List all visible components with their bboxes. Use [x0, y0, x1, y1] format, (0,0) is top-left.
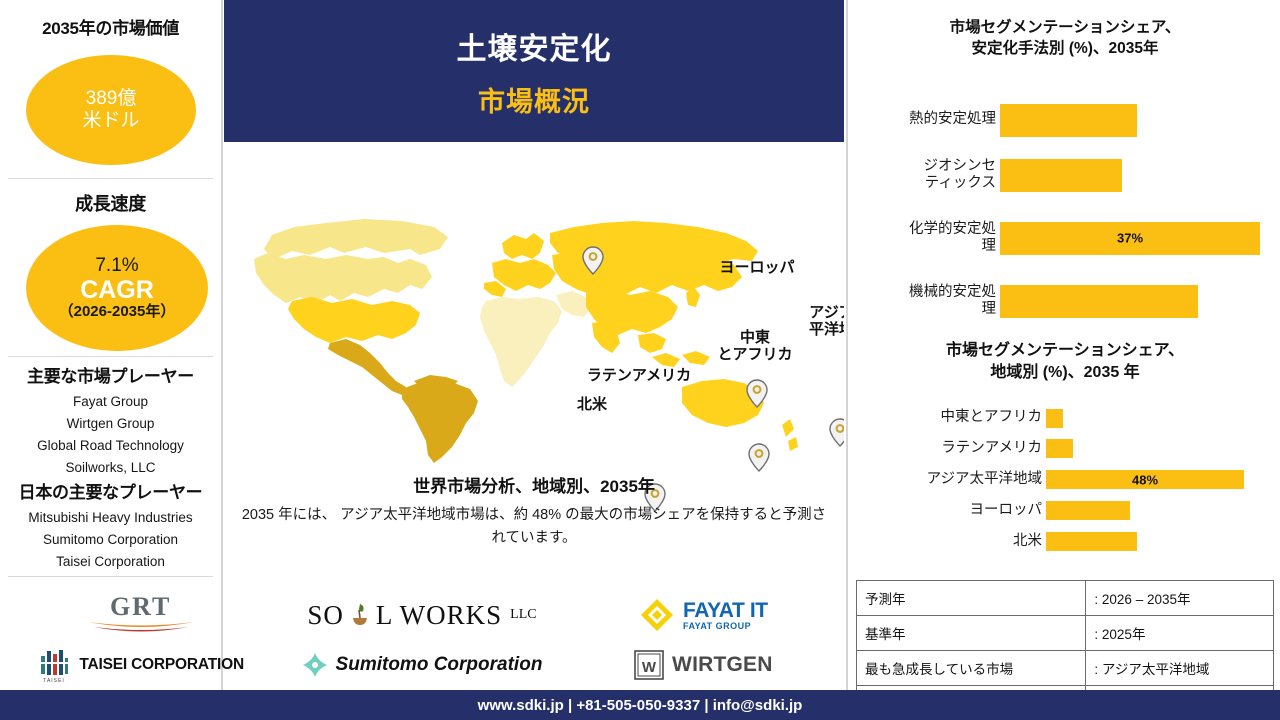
chart-2-label: アジア太平洋地域 [848, 471, 1042, 488]
map-pin-asia-pacific [829, 418, 844, 448]
logo-soilworks-text: SO [307, 600, 344, 631]
logo-sumitomo-text: Sumitomo Corporation [336, 654, 543, 676]
chart-2-bar [1046, 439, 1073, 458]
map-pin-north-america [582, 246, 604, 276]
chart-2-bar [1046, 409, 1063, 428]
japan-players-section: 日本の主要なプレーヤー Mitsubishi Heavy Industries … [0, 478, 221, 573]
page-title: 土壌安定化 [457, 24, 612, 68]
list-item: Taisei Corporation [0, 551, 221, 573]
key-players-heading: 主要な市場プレーヤー [0, 362, 221, 387]
map-pin-middle-east-africa [748, 443, 770, 473]
page-header: 土壌安定化 市場概況 [224, 0, 844, 142]
key-players-list: Fayat Group Wirtgen Group Global Road Te… [0, 391, 221, 478]
map-label-middle-east-africa: 中東 とアフリカ [690, 330, 820, 364]
chart-2-row: 中東とアフリカ [848, 403, 1280, 433]
soil-sprout-icon [350, 601, 370, 629]
chart-2-row: 北米 [848, 526, 1280, 557]
chart-1-bar [1000, 104, 1137, 137]
chart-2-title-line1: 市場セグメンテーションシェア、 [858, 340, 1272, 362]
list-item: Soilworks, LLC [0, 457, 221, 479]
logo-wirtgen-text: WIRTGEN [672, 653, 773, 677]
chart-1-label: 化学的安定処 理 [848, 221, 996, 256]
chart-1-label: ジオシンセ ティックス [848, 158, 996, 193]
growth-section: 成長速度 [0, 190, 221, 216]
logo-grt-text: GRT [110, 594, 171, 620]
table-value: : アジア太平洋地域 [1086, 651, 1274, 686]
page-subtitle: 市場概況 [478, 80, 590, 119]
market-value-ellipse: 389億 米ドル [26, 55, 196, 165]
right-sidebar: 市場セグメンテーションシェア、 安定化手法別 (%)、2035年 熱的安定処理 … [846, 0, 1280, 720]
logo-fayat-sub: FAYAT GROUP [683, 621, 768, 631]
map-label-latin-america: ラテンアメリカ [544, 368, 734, 385]
chart-2-bars: 中東とアフリカ ラテンアメリカ アジア太平洋地域 48% ヨーロッパ [848, 403, 1280, 557]
table-row: 予測年 : 2026 – 2035年 [857, 581, 1274, 616]
chart-2-bar [1046, 501, 1130, 520]
chart-2-row: ラテンアメリカ [848, 433, 1280, 464]
list-item: Fayat Group [0, 391, 221, 413]
growth-heading: 成長速度 [0, 190, 221, 216]
wirtgen-mark-icon: W [634, 650, 664, 680]
growth-cagr: CAGR [80, 277, 154, 303]
table-key: 基準年 [857, 616, 1086, 651]
map-body-text: 2035 年には、 アジア太平洋地域市場は、約 48% の最大の市場シェアを保持… [238, 504, 830, 550]
partner-logos: GRT SO L WORKS LLC [0, 590, 844, 690]
chart-2-bar: 48% [1046, 470, 1244, 489]
map-pin-europe [746, 379, 768, 409]
logo-fayat: FAYAT IT FAYAT GROUP [639, 597, 768, 633]
logo-fayat-text: FAYAT IT [683, 600, 768, 621]
list-item: Sumitomo Corporation [0, 529, 221, 551]
sumitomo-mark-icon [302, 652, 328, 678]
chart-2-bar [1046, 532, 1137, 551]
footer-bar: www.sdki.jp | +81-505-050-9337 | info@sd… [0, 690, 1280, 720]
fayat-diamond-icon [639, 597, 675, 633]
chart-1-bar [1000, 159, 1122, 192]
chart-1-row: 機械的安定処 理 [848, 270, 1280, 332]
divider-3 [8, 576, 213, 577]
chart-1-title: 市場セグメンテーションシェア、 安定化手法別 (%)、2035年 [858, 18, 1272, 60]
chart-1-row: ジオシンセ ティックス [848, 144, 1280, 206]
table-key: 最も急成長している市場 [857, 651, 1086, 686]
market-value-line1: 389億 [86, 88, 137, 109]
taisei-mark-icon: TAISEI [37, 646, 71, 684]
logo-soilworks: SO L WORKS LLC [307, 600, 536, 631]
market-value-text: 389億 米ドル [82, 88, 139, 132]
japan-players-list: Mitsubishi Heavy Industries Sumitomo Cor… [0, 507, 221, 573]
list-item: Global Road Technology [0, 435, 221, 457]
chart-1-bar [1000, 285, 1198, 318]
chart-2-value: 48% [1046, 472, 1244, 487]
chart-1-label: 熱的安定処理 [848, 111, 996, 128]
divider-2 [8, 356, 213, 357]
chart-1-label: 機械的安定処 理 [848, 284, 996, 319]
footer-contact-text: www.sdki.jp | +81-505-050-9337 | info@sd… [478, 697, 803, 714]
logo-taisei: TAISEI TAISEI CORPORATION [37, 646, 244, 684]
map-label-north-america: 北米 [532, 397, 652, 414]
chart-1-row: 化学的安定処 理 37% [848, 206, 1280, 270]
chart-1-title-line2: 安定化手法別 (%)、2035年 [858, 39, 1272, 60]
growth-ellipse: 7.1% CAGR （2026-2035年） [26, 225, 208, 351]
grt-swoosh-icon [86, 620, 196, 636]
chart-2-row: アジア太平洋地域 48% [848, 464, 1280, 495]
map-panel: 北米 ヨーロッパ アジア太 平洋地域 中東 とアフリカ ラテンアメリカ 世界市場… [224, 142, 844, 590]
table-row: 基準年 : 2025年 [857, 616, 1274, 651]
japan-players-heading: 日本の主要なプレーヤー [0, 478, 221, 503]
chart-1-title-line1: 市場セグメンテーションシェア、 [858, 18, 1272, 39]
chart-2-label: 北米 [848, 533, 1042, 550]
chart-1-row: 熱的安定処理 [848, 96, 1280, 144]
chart-2-title: 市場セグメンテーションシェア、 地域別 (%)、2035 年 [858, 340, 1272, 383]
table-value: : 2026 – 2035年 [1086, 581, 1274, 616]
map-caption: 世界市場分析、地域別、2035年 [224, 472, 844, 497]
market-value-section: 2035年の市場価値 [0, 14, 221, 39]
key-players-section: 主要な市場プレーヤー Fayat Group Wirtgen Group Glo… [0, 362, 221, 478]
chart-2-row: ヨーロッパ [848, 495, 1280, 526]
logo-wirtgen: W WIRTGEN [634, 650, 773, 680]
chart-2-label: ヨーロッパ [848, 502, 1042, 519]
divider-1 [8, 178, 213, 179]
growth-rate: 7.1% [95, 255, 138, 277]
chart-1-bar: 37% [1000, 222, 1260, 255]
chart-2-label: 中東とアフリカ [848, 409, 1042, 426]
chart-2-label: ラテンアメリカ [848, 440, 1042, 457]
logo-soilworks-suffix: LLC [510, 607, 536, 623]
table-key: 予測年 [857, 581, 1086, 616]
chart-1-value: 37% [1000, 231, 1260, 246]
svg-text:TAISEI: TAISEI [44, 678, 65, 684]
chart-1-bars: 熱的安定処理 ジオシンセ ティックス 化学的安定処 理 37% 機械的安定処 理 [848, 96, 1280, 332]
table-row: 最も急成長している市場 : アジア太平洋地域 [857, 651, 1274, 686]
list-item: Mitsubishi Heavy Industries [0, 507, 221, 529]
logo-soilworks-text2: L WORKS [376, 600, 502, 631]
list-item: Wirtgen Group [0, 413, 221, 435]
infographic-root: 2035年の市場価値 389億 米ドル 成長速度 7.1% CAGR （2026… [0, 0, 1280, 720]
logo-taisei-text: TAISEI CORPORATION [79, 656, 244, 674]
table-value: : 2025年 [1086, 616, 1274, 651]
logo-grt: GRT [86, 594, 196, 636]
svg-text:W: W [642, 659, 657, 676]
logo-sumitomo: Sumitomo Corporation [302, 652, 543, 678]
market-value-heading: 2035年の市場価値 [0, 14, 221, 39]
chart-2-title-line2: 地域別 (%)、2035 年 [858, 362, 1272, 384]
growth-period: （2026-2035年） [59, 303, 176, 320]
market-value-line2: 米ドル [82, 110, 139, 131]
left-sidebar: 2035年の市場価値 389億 米ドル 成長速度 7.1% CAGR （2026… [0, 0, 223, 690]
map-label-europe: ヨーロッパ [682, 260, 832, 277]
